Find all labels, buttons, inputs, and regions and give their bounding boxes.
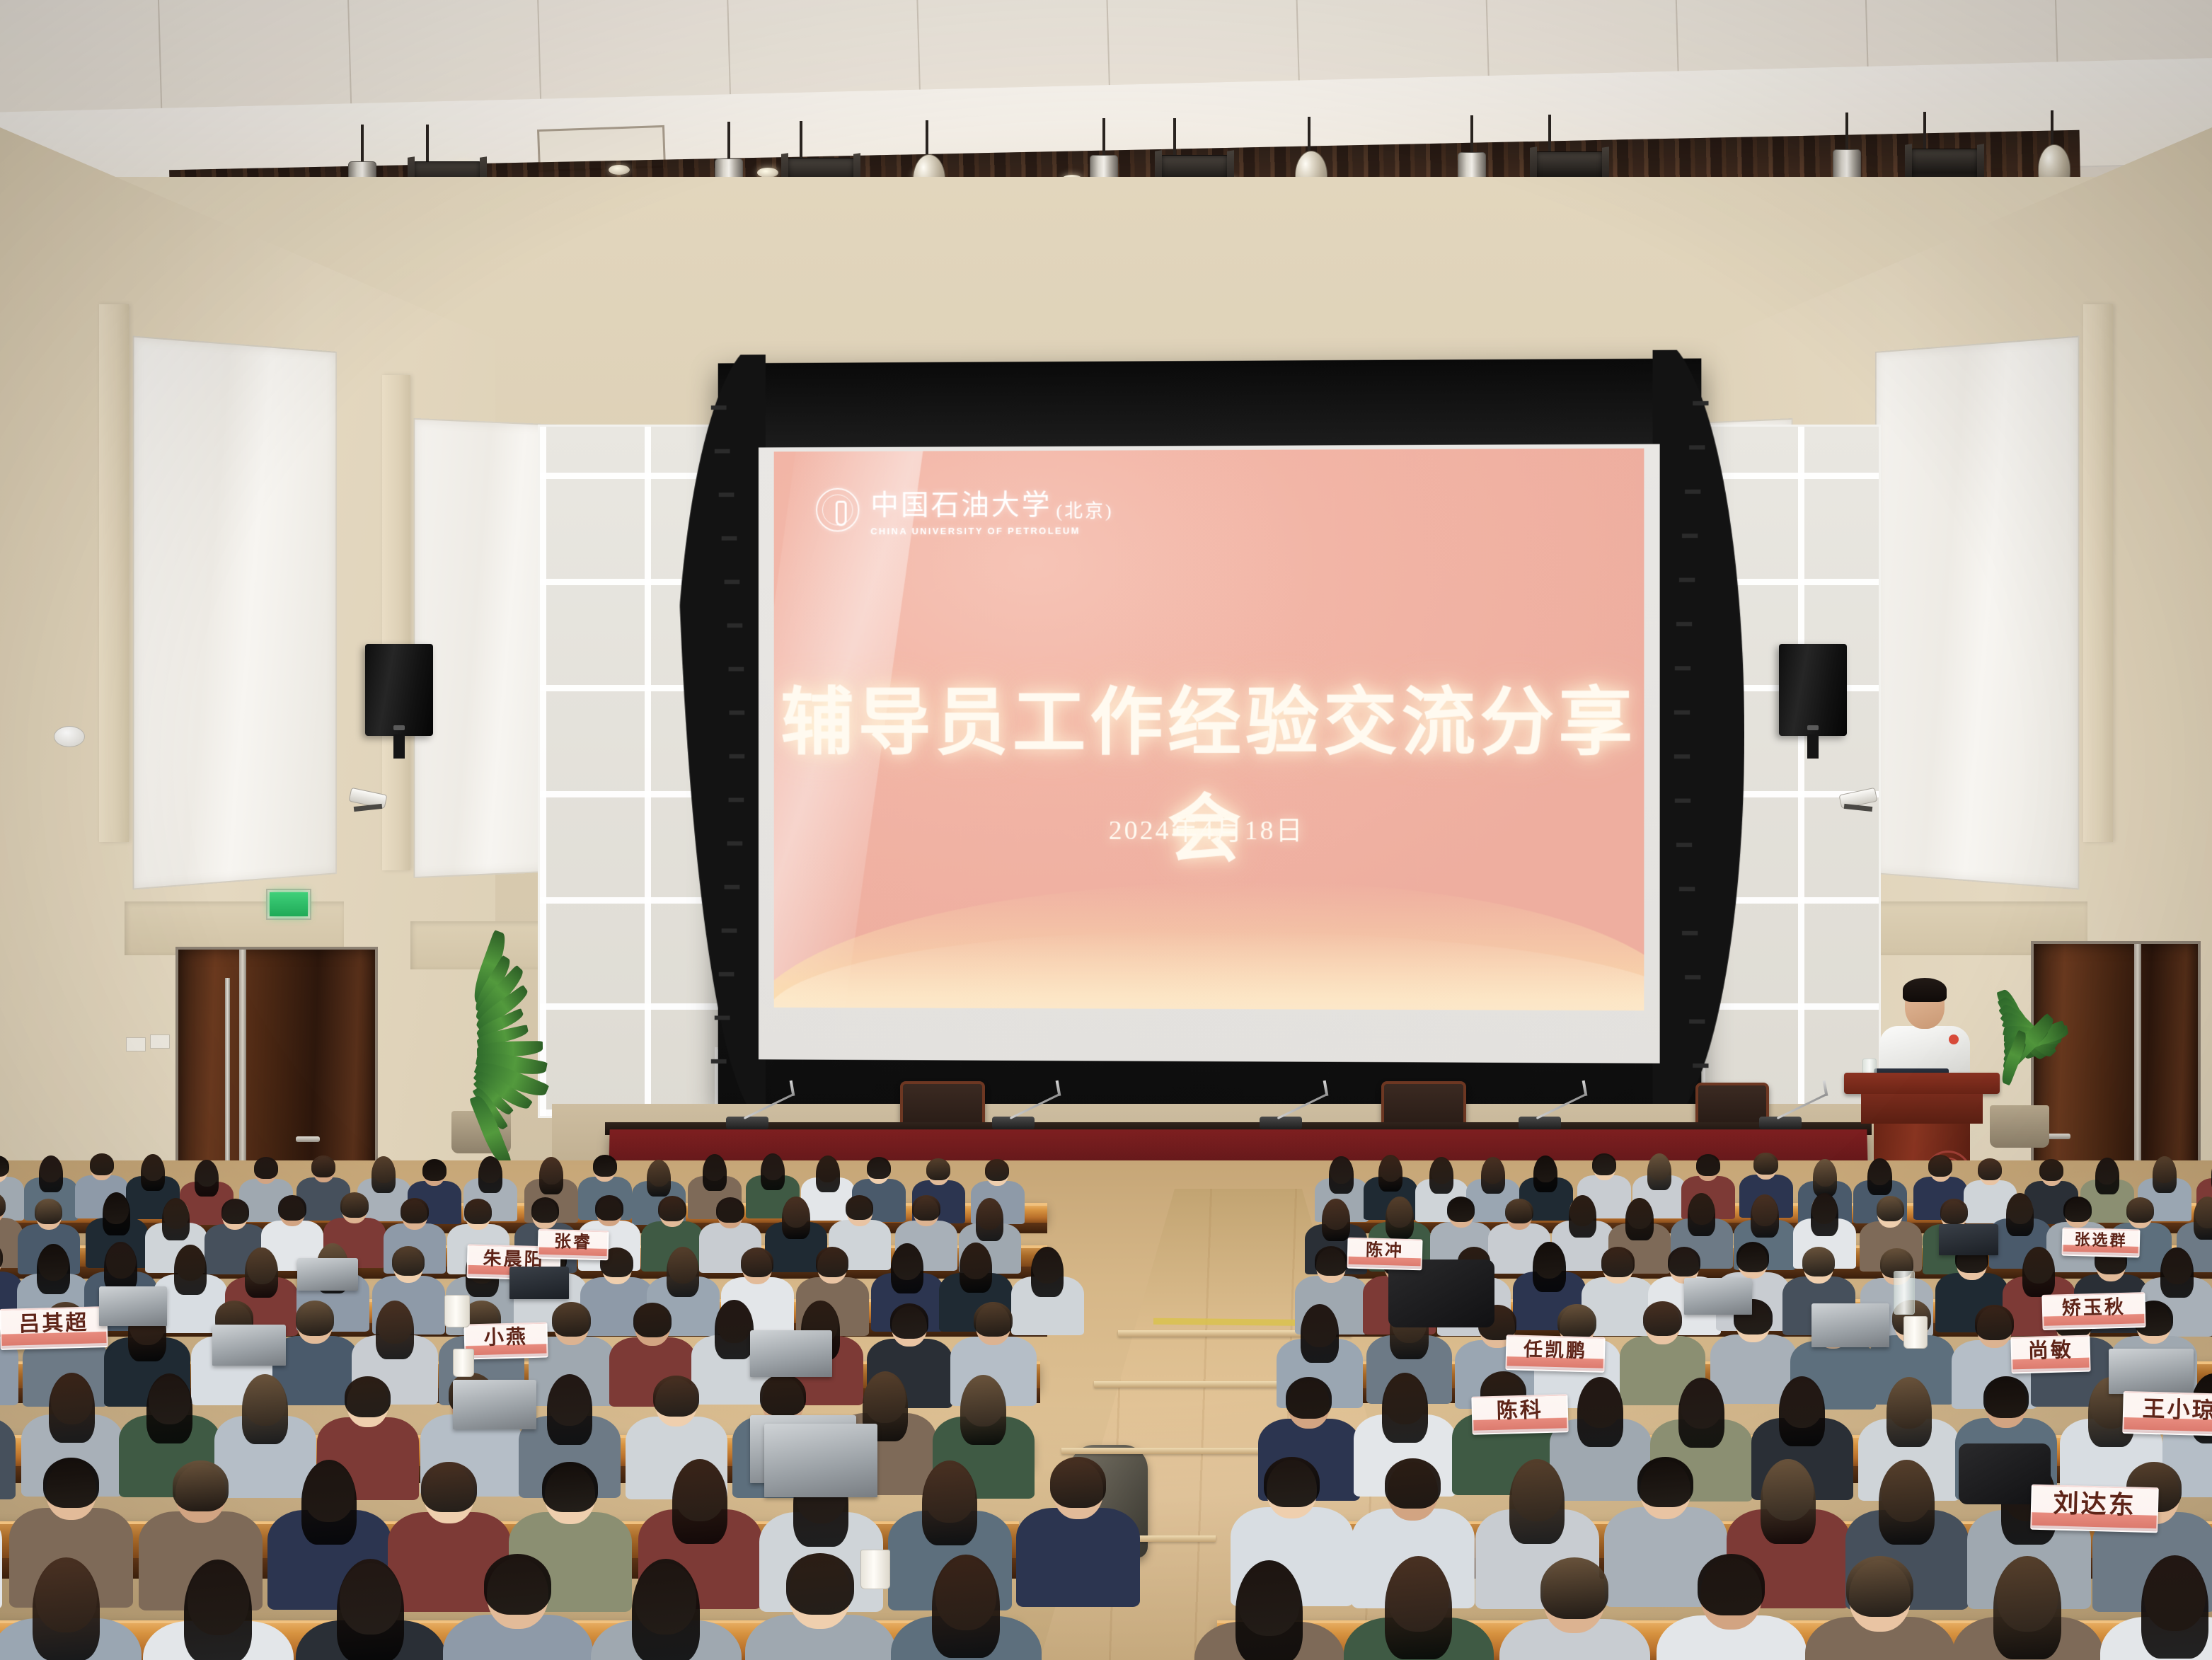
projection-screen: 中国石油大学 (北京) CHINA UNIVERSITY OF PETROLEU…: [718, 359, 1702, 1114]
audience-hair: [311, 1155, 335, 1177]
audience-hair: [221, 1199, 250, 1224]
stage-microphone: [1759, 1117, 1802, 1129]
cctv-camera-left: [350, 791, 386, 810]
screen-tab: [1693, 1064, 1708, 1068]
audience-hair: [484, 1554, 551, 1615]
exit-sign: [266, 889, 311, 920]
audience-hair: [39, 1155, 63, 1192]
cup: [444, 1295, 470, 1327]
audience-hair: [422, 1159, 447, 1181]
laptop[interactable]: [2109, 1349, 2194, 1394]
audience-hair: [1235, 1560, 1303, 1660]
screen-tab: [1686, 490, 1701, 494]
audience-hair: [653, 1376, 699, 1417]
audience-hair: [141, 1154, 165, 1191]
downlight: [609, 165, 630, 175]
light-cable: [361, 125, 364, 166]
audience-hair: [547, 1374, 593, 1444]
name-placard: 陈科: [1471, 1394, 1568, 1435]
audience-hair: [1879, 1460, 1934, 1545]
audience-hair: [976, 1198, 1004, 1241]
screen-tab: [722, 536, 737, 541]
name-placard: 刘达东: [2030, 1485, 2159, 1533]
lecture-hall-photo: 中国石油大学 (北京) CHINA UNIVERSITY OF PETROLEU…: [0, 0, 2212, 1660]
screen-tab: [715, 449, 730, 454]
audience-hair: [1813, 1159, 1837, 1196]
podium-top: [1844, 1073, 2000, 1094]
light-cable: [426, 125, 429, 166]
audience-hair: [552, 1302, 591, 1337]
screen-tab: [1674, 710, 1690, 715]
audience-hair: [37, 1244, 69, 1294]
laptop[interactable]: [212, 1325, 286, 1366]
audience-hair: [1264, 1457, 1319, 1507]
audience-hair: [985, 1159, 1009, 1181]
audience-hair: [2126, 1197, 2155, 1223]
laptop[interactable]: [750, 1330, 832, 1377]
audience-hair: [647, 1160, 671, 1197]
audience-hair: [1592, 1153, 1616, 1175]
audience-hair: [658, 1196, 686, 1221]
laptop[interactable]: [764, 1424, 877, 1497]
light-cable: [800, 121, 802, 162]
audience-hair: [1779, 1376, 1825, 1446]
laptop[interactable]: [1939, 1224, 1998, 1255]
audience-hair: [245, 1247, 277, 1298]
audience-hair: [1637, 1457, 1693, 1507]
audience-hair: [2039, 1159, 2063, 1181]
name-placard: 陈冲: [1347, 1238, 1422, 1271]
audience-hair: [43, 1458, 98, 1508]
screen-tab: [1676, 843, 1692, 847]
audience-hair: [371, 1156, 396, 1193]
screen-tab: [729, 710, 744, 715]
audience-hair: [1447, 1197, 1475, 1222]
audience-hair: [846, 1195, 874, 1221]
screen-tab: [1675, 666, 1690, 670]
audience-hair: [49, 1373, 95, 1443]
audience-hair: [392, 1246, 425, 1276]
potted-plant-left: [436, 969, 570, 1153]
audience-hair: [1315, 1246, 1347, 1276]
audience-hair: [340, 1192, 369, 1218]
audience-hair: [974, 1302, 1013, 1337]
audience-hair: [376, 1301, 415, 1360]
audience-hair: [2095, 1158, 2119, 1194]
light-cable: [1845, 113, 1848, 154]
wall-outlet[interactable]: [126, 1037, 146, 1051]
laptop[interactable]: [297, 1258, 358, 1291]
acoustic-panel-left-1: [132, 335, 337, 889]
stage-microphone: [1519, 1117, 1561, 1129]
audience-hair: [782, 1197, 810, 1240]
cctv-camera-right: [1840, 791, 1877, 810]
screen-tab: [728, 667, 744, 672]
audience-hair: [1540, 1557, 1608, 1619]
wall-speaker-right: [1779, 644, 1847, 736]
placard-name: 小燕: [484, 1327, 529, 1349]
audience-hair: [1385, 1458, 1440, 1509]
screen-tab: [1674, 754, 1690, 759]
audience-hair: [542, 1462, 597, 1512]
screen-tab: [1679, 887, 1695, 891]
name-placard: 王小琼: [2122, 1391, 2212, 1436]
audience-hair: [1386, 1197, 1414, 1240]
screen-surface: 中国石油大学 (北京) CHINA UNIVERSITY OF PETROLEU…: [759, 444, 1660, 1064]
audience-hair: [672, 1459, 727, 1544]
audience-hair: [1647, 1153, 1671, 1190]
audience-hair: [184, 1560, 251, 1660]
wall-pilaster: [99, 304, 129, 842]
audience-hair: [1978, 1158, 2002, 1180]
laptop[interactable]: [99, 1286, 167, 1326]
placard-name: 任凯鹏: [1523, 1340, 1588, 1361]
audience-hair: [1382, 1373, 1428, 1443]
university-name-cn: 中国石油大学: [870, 482, 1052, 524]
audience-hair: [926, 1158, 950, 1180]
audience-hair: [960, 1243, 992, 1293]
audience-hair: [35, 1199, 63, 1224]
audience-hair: [531, 1197, 560, 1223]
audience-hair: [1378, 1155, 1402, 1192]
placard-name: 吕其超: [18, 1313, 89, 1336]
presentation-slide: 中国石油大学 (北京) CHINA UNIVERSITY OF PETROLEU…: [774, 449, 1644, 1011]
audience-hair: [539, 1157, 563, 1194]
name-placard: 尚敏: [2010, 1335, 2090, 1374]
audience-hair: [1753, 1153, 1778, 1175]
audience-hair: [1385, 1556, 1452, 1659]
audience-hair: [1050, 1457, 1105, 1507]
screen-tab: [1675, 799, 1690, 803]
screen-tab: [1689, 445, 1705, 449]
screen-tab: [1679, 578, 1695, 582]
slide-date: 2024年4月18日: [774, 807, 1644, 847]
screen-tab: [725, 580, 740, 584]
audience-hair: [296, 1301, 335, 1336]
audience-hair: [1601, 1247, 1634, 1276]
light-cable: [1470, 115, 1473, 156]
audience-hair: [1533, 1242, 1565, 1292]
name-placard: 矫玉秋: [2041, 1292, 2145, 1330]
audience-hair: [1886, 1377, 1932, 1447]
audience-hair: [595, 1195, 623, 1221]
name-placard: 小燕: [463, 1322, 548, 1359]
audience-hair: [890, 1303, 929, 1339]
audience-hair: [1688, 1193, 1716, 1236]
audience-hair: [1928, 1155, 1952, 1177]
screen-tab: [1689, 1020, 1705, 1024]
audience-hair: [1301, 1304, 1340, 1364]
audience-hair: [90, 1153, 114, 1175]
audience-hair: [1993, 1556, 2061, 1659]
speaker-mount-left: [393, 734, 405, 759]
audience-hair: [1698, 1554, 1765, 1615]
audience-hair: [1867, 1158, 1891, 1195]
screen-tab: [728, 797, 744, 802]
acoustic-panel-right-1: [1875, 335, 2080, 889]
audience-hair: [816, 1247, 848, 1276]
audience-hair: [1329, 1156, 1353, 1193]
placard-name: 陈科: [1496, 1400, 1543, 1422]
placard-name: 王小琼: [2142, 1397, 2212, 1422]
audience-hair: [632, 1559, 699, 1660]
speaker-mount-right: [1807, 734, 1819, 759]
laptop[interactable]: [1684, 1278, 1752, 1315]
name-placard: 任凯鹏: [1505, 1335, 1605, 1373]
audience-hair: [2153, 1156, 2177, 1193]
audience-hair: [2006, 1193, 2034, 1236]
audience-hair: [301, 1460, 357, 1545]
stage-microphone: [992, 1117, 1035, 1129]
audience-hair: [1983, 1376, 2029, 1418]
placard-name: 陈冲: [1366, 1242, 1405, 1260]
audience-hair: [174, 1245, 207, 1295]
audience-hair: [162, 1198, 190, 1241]
audience-hair: [786, 1553, 853, 1615]
cup: [860, 1550, 890, 1589]
audience-hair: [1877, 1196, 1905, 1221]
screen-tab: [727, 841, 742, 846]
presenter-badge: [1949, 1034, 1959, 1044]
audience-hair: [1577, 1377, 1623, 1447]
light-cable: [1173, 118, 1176, 159]
light-cable: [1548, 115, 1551, 156]
audience-hair: [478, 1156, 502, 1193]
audience-hair: [1696, 1154, 1720, 1176]
screen-tab: [715, 1015, 730, 1020]
audience-hair: [1811, 1193, 1839, 1236]
audience-hair: [1846, 1556, 1913, 1618]
audience-hair: [1031, 1247, 1064, 1297]
screen-tab: [727, 623, 742, 628]
light-cable: [1923, 112, 1926, 153]
screen-tab: [711, 1059, 727, 1064]
audience-hair: [1286, 1377, 1332, 1419]
screen-tab: [729, 754, 744, 759]
audience-hair: [1761, 1459, 1816, 1544]
name-placard: 张睿: [537, 1229, 609, 1261]
audience-hair: [242, 1374, 288, 1444]
audience-hair: [401, 1198, 429, 1223]
presenter-head: [1905, 982, 1945, 1029]
cup: [1903, 1316, 1928, 1349]
audience-hair: [667, 1247, 699, 1297]
stage-microphone: [1260, 1117, 1302, 1129]
audience-hair: [1802, 1247, 1835, 1276]
audience-hair: [421, 1462, 476, 1512]
wall-pilaster: [2083, 304, 2113, 842]
audience-hair: [2022, 1247, 2055, 1297]
screen-tab: [1682, 534, 1698, 538]
audience-hair: [1643, 1301, 1682, 1337]
light-cable: [727, 122, 730, 163]
audience-hair: [464, 1199, 492, 1224]
audience-hair: [1322, 1199, 1350, 1242]
audience-hair: [1625, 1198, 1654, 1241]
audience-hair: [33, 1557, 100, 1660]
audience-hair: [104, 1242, 137, 1292]
audience-hair: [1668, 1247, 1700, 1276]
audience-hair: [1533, 1155, 1557, 1192]
audience-hair: [1429, 1157, 1453, 1194]
audience-hair: [345, 1376, 391, 1418]
water-bottle: [1894, 1271, 1915, 1315]
name-placard: 张选群: [2061, 1228, 2140, 1258]
audience-hair: [1557, 1304, 1596, 1339]
screen-tab: [725, 885, 740, 889]
screen-tab: [718, 492, 734, 497]
audience-hair: [2141, 1555, 2208, 1659]
placard-name: 刘达东: [2053, 1490, 2136, 1518]
audience-hair: [2063, 1197, 2092, 1222]
audience-hair: [716, 1197, 744, 1223]
university-name-en: CHINA UNIVERSITY OF PETROLEUM: [870, 525, 1113, 536]
audience-hair: [103, 1192, 131, 1235]
wall-outlet[interactable]: [150, 1034, 170, 1049]
audience-hair: [703, 1154, 727, 1191]
university-campus-cn: (北京): [1056, 496, 1113, 522]
audience-hair: [254, 1157, 278, 1179]
placard-name: 张睿: [554, 1233, 593, 1251]
audience-hair: [278, 1195, 306, 1221]
university-logo-block: 中国石油大学 (北京) CHINA UNIVERSITY OF PETROLEU…: [816, 481, 1113, 536]
laptop[interactable]: [1811, 1303, 1889, 1347]
audience-hair: [922, 1460, 977, 1545]
audience-hair: [1509, 1459, 1565, 1544]
audience-hair: [633, 1303, 672, 1338]
audience-hair: [761, 1153, 785, 1190]
audience-hair: [2160, 1247, 2193, 1298]
light-cable: [1102, 118, 1105, 159]
audience-hair: [912, 1195, 940, 1221]
audience-hair: [867, 1157, 891, 1179]
audience-hair: [1678, 1378, 1724, 1448]
screen-tab: [1686, 975, 1701, 979]
podium-mid: [1861, 1094, 1983, 1124]
audience-hair: [173, 1460, 228, 1511]
audience-hair: [932, 1555, 999, 1658]
audience-hair: [1481, 1157, 1505, 1194]
aisle-step: [1061, 1448, 1267, 1454]
audience-hair: [1505, 1199, 1533, 1224]
audience-hair: [891, 1243, 923, 1293]
laptop[interactable]: [509, 1267, 569, 1299]
audience-hair: [337, 1559, 404, 1660]
screen-top-bar: [718, 359, 1702, 448]
audience-hair: [1751, 1194, 1779, 1238]
audience-body: [1016, 1508, 1140, 1608]
presenter-hair: [1903, 978, 1947, 1002]
smoke-detector: [54, 726, 85, 747]
stage-microphone: [726, 1117, 768, 1129]
audience-hair: [816, 1155, 840, 1192]
audience-hair: [146, 1373, 192, 1443]
audience-hair: [1940, 1199, 1969, 1224]
audience-hair: [760, 1374, 806, 1416]
laptop[interactable]: [453, 1380, 536, 1429]
audience-hair: [1736, 1242, 1769, 1272]
placard-name: 尚敏: [2027, 1340, 2073, 1362]
audience-hair: [741, 1247, 773, 1277]
placard-name: 矫玉秋: [2062, 1298, 2126, 1318]
screen-tab: [722, 928, 737, 933]
screen-tab: [711, 405, 727, 410]
university-seal-icon: [816, 488, 859, 531]
screen-tab: [1693, 401, 1708, 405]
audience-hair: [1569, 1195, 1597, 1238]
audience-hair: [1975, 1305, 2014, 1340]
screen-tab: [1676, 622, 1692, 626]
audience-hair: [195, 1160, 219, 1197]
name-placard: 吕其超: [0, 1306, 108, 1350]
wall-speaker-left: [365, 644, 433, 736]
placard-name: 张选群: [2074, 1232, 2128, 1249]
cup: [453, 1349, 474, 1377]
screen-tab: [718, 972, 734, 976]
screen-tab: [1682, 931, 1698, 935]
audience-hair: [593, 1155, 617, 1177]
audience-hair: [715, 1300, 754, 1359]
audience-hair: [960, 1375, 1006, 1445]
